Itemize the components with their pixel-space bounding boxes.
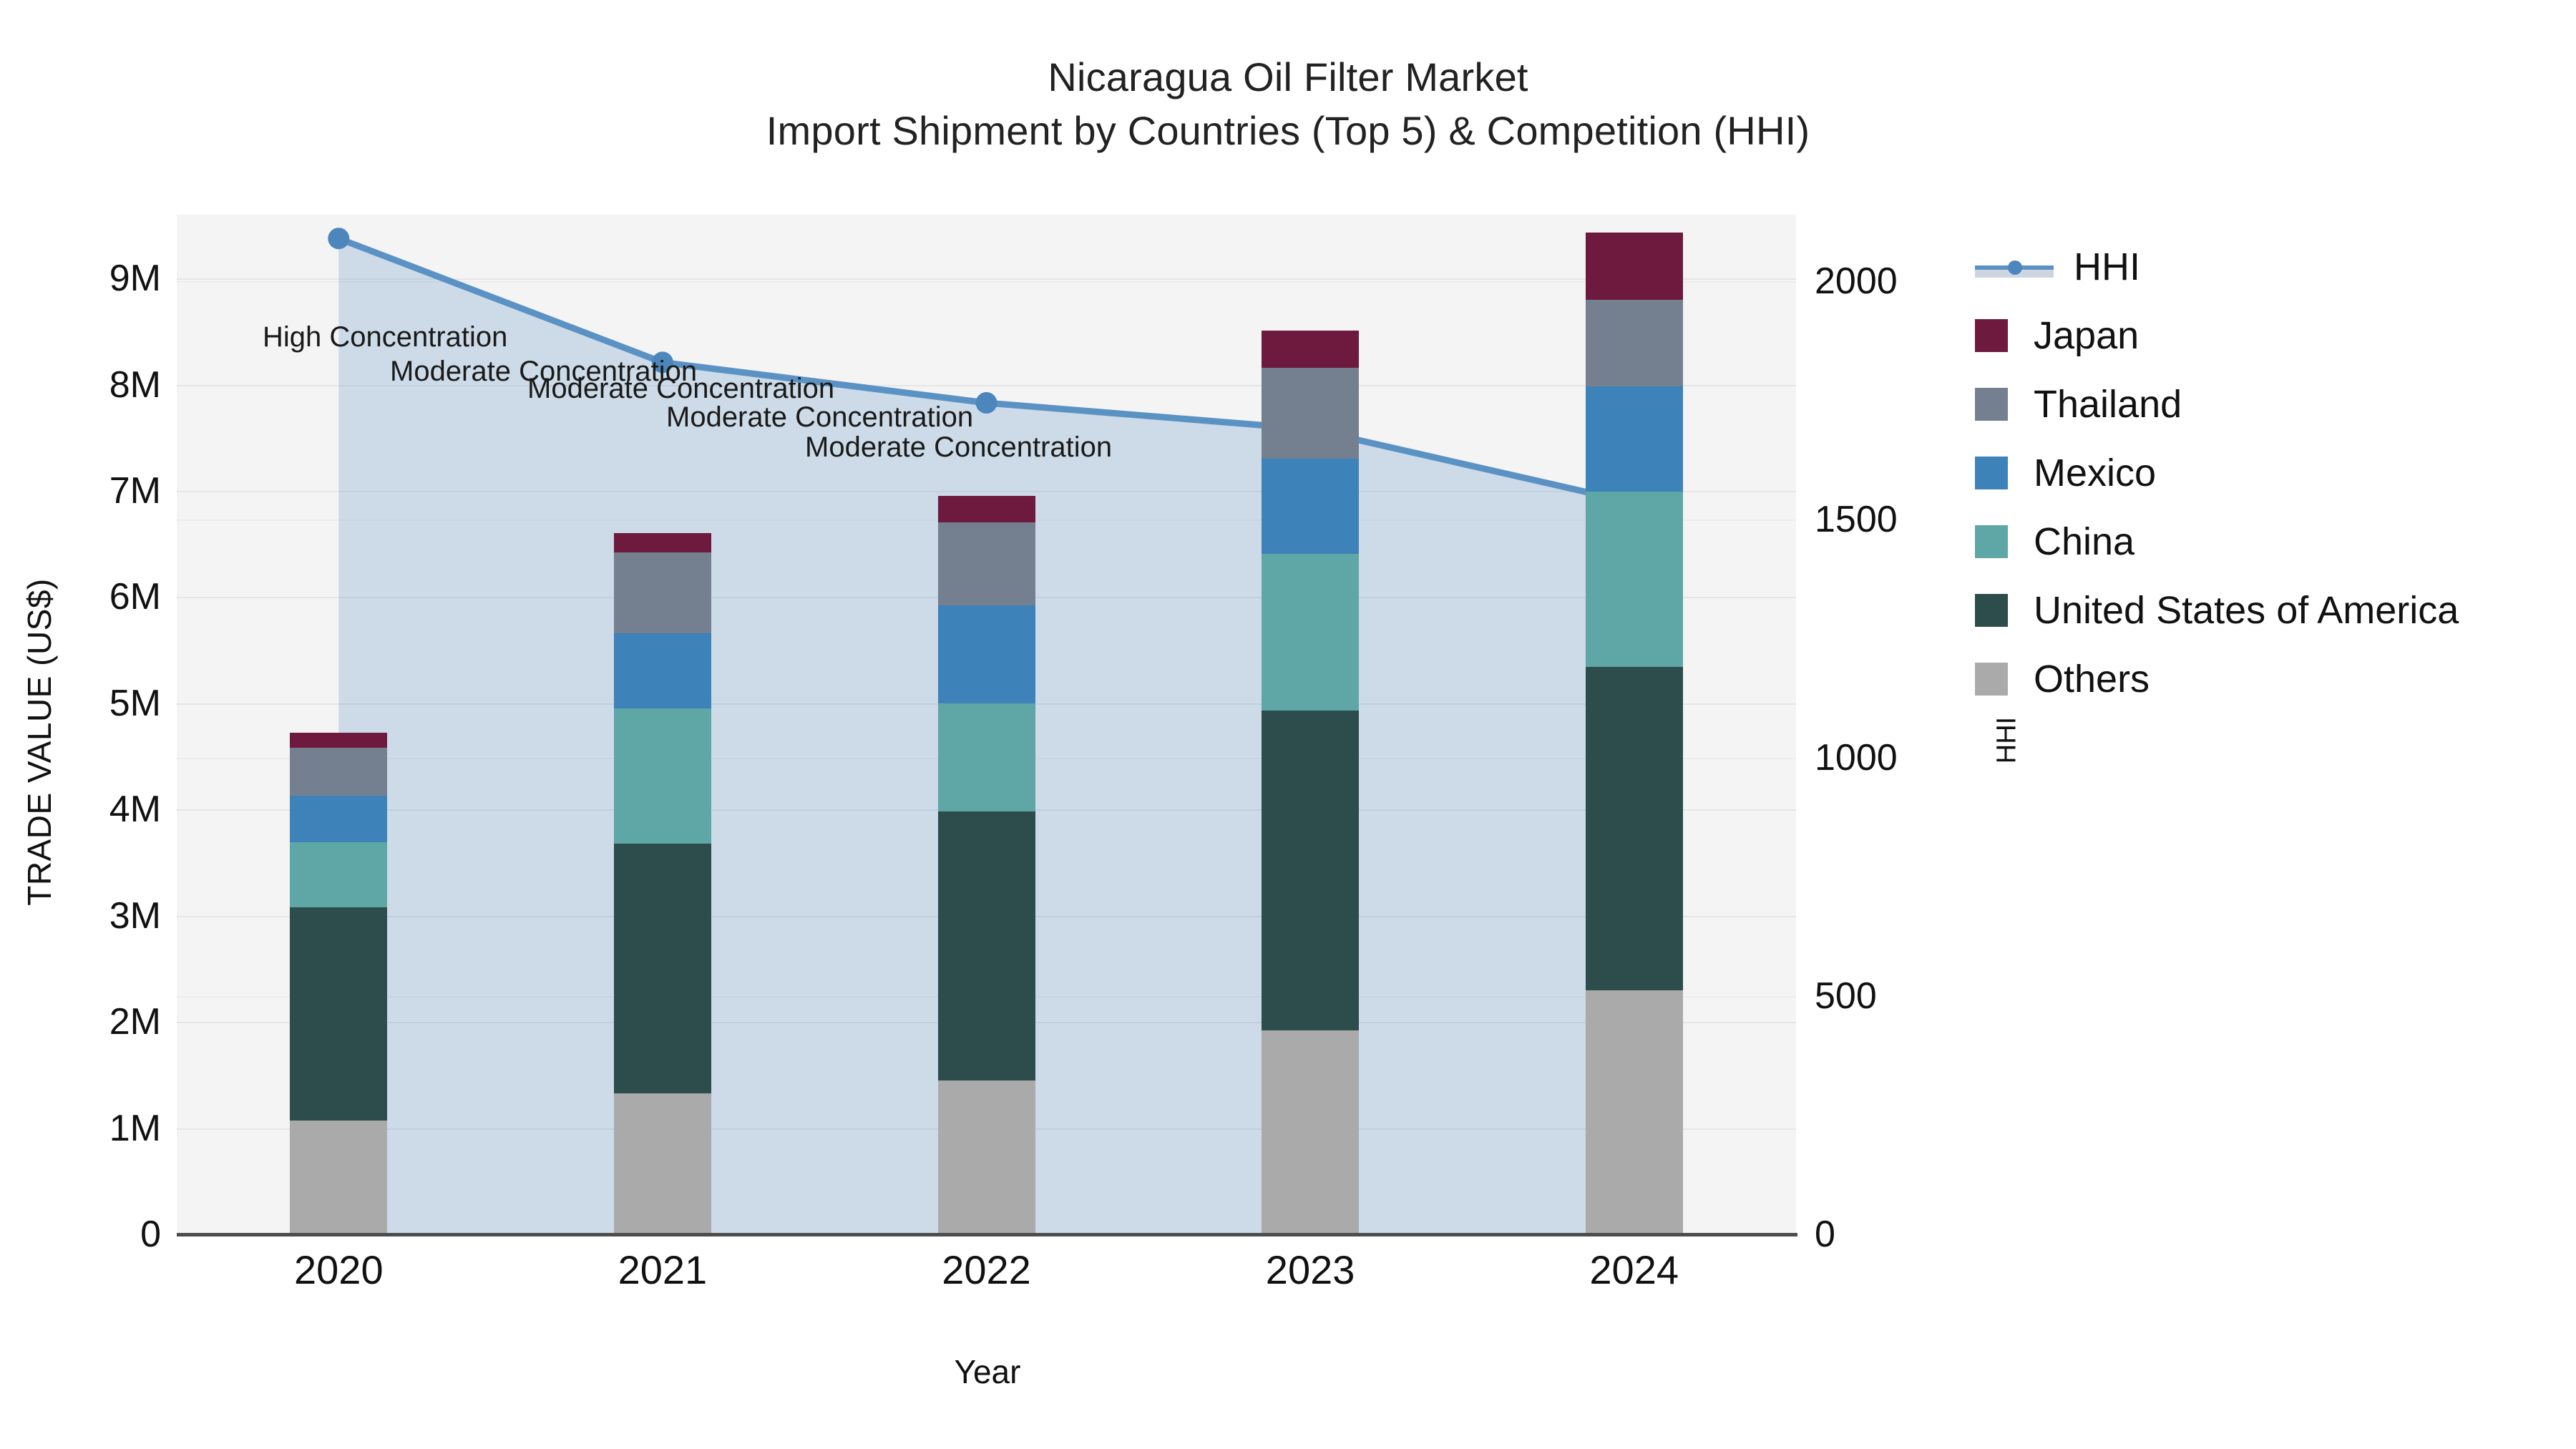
legend-color-swatch: [1975, 319, 2008, 352]
bar-segment[interactable]: [290, 748, 387, 796]
legend-item-label: HHI: [2074, 245, 2140, 289]
y-axis-right-tick-label: 0: [1815, 1213, 1835, 1256]
plot-area: High ConcentrationModerate Concentration…: [177, 215, 1796, 1234]
x-axis-tick-label: 2021: [618, 1246, 708, 1293]
y-axis-right-tick-label: 1000: [1815, 736, 1898, 779]
bar-segment[interactable]: [1262, 711, 1359, 1030]
bar-segment[interactable]: [614, 708, 711, 844]
bar-segment[interactable]: [1262, 368, 1359, 459]
bar-stack[interactable]: [290, 733, 387, 1234]
bar-segment[interactable]: [938, 496, 1035, 522]
bar-segment[interactable]: [938, 811, 1035, 1080]
hhi-data-point-marker[interactable]: [328, 228, 349, 249]
chart-canvas: Nicaragua Oil Filter Market Import Shipm…: [0, 0, 2576, 1449]
concentration-annotation: Moderate Concentration: [527, 373, 834, 405]
x-axis-line: [177, 1233, 1797, 1236]
x-axis-tick-label: 2020: [294, 1246, 384, 1293]
x-axis-tick-label: 2024: [1589, 1246, 1679, 1293]
concentration-annotation: High Concentration: [263, 321, 507, 353]
legend-item-thailand[interactable]: Thailand: [1975, 370, 2562, 439]
legend-marker-dot-icon: [2008, 260, 2022, 275]
legend-color-swatch: [1975, 663, 2008, 696]
legend-item-label: United States of America: [2034, 588, 2459, 633]
legend-item-mexico[interactable]: Mexico: [1975, 439, 2562, 507]
x-axis-title: Year: [0, 1352, 1975, 1391]
y-axis-right-tick-label: 500: [1815, 975, 1877, 1018]
bar-segment[interactable]: [614, 533, 711, 552]
y-axis-right-tick-label: 1500: [1815, 498, 1898, 541]
y-axis-left-tick-label: 2M: [109, 1000, 161, 1043]
bar-segment[interactable]: [938, 605, 1035, 703]
bar-stack[interactable]: [1262, 331, 1359, 1234]
y-axis-left-tick-label: 1M: [109, 1107, 161, 1150]
legend-item-label: Others: [2034, 657, 2150, 701]
chart-title-line-2: Import Shipment by Countries (Top 5) & C…: [0, 104, 2576, 157]
bar-segment[interactable]: [1262, 554, 1359, 711]
x-axis-tick-label: 2022: [942, 1246, 1031, 1293]
chart-title: Nicaragua Oil Filter Market Import Shipm…: [0, 50, 2576, 157]
bar-segment[interactable]: [1586, 233, 1683, 300]
legend-color-swatch: [1975, 457, 2008, 489]
legend-item-label: Japan: [2034, 313, 2139, 358]
legend-color-swatch: [1975, 388, 2008, 421]
y-axis-left-tick-label: 7M: [109, 469, 161, 512]
bar-segment[interactable]: [1586, 667, 1683, 990]
legend-item-united-states-of-america[interactable]: United States of America: [1975, 576, 2562, 645]
x-axis-tick-label: 2023: [1266, 1246, 1355, 1293]
y-axis-left-tick-label: 9M: [109, 257, 161, 300]
chart-legend: HHIJapanThailandMexicoChinaUnited States…: [1975, 233, 2562, 713]
legend-item-japan[interactable]: Japan: [1975, 301, 2562, 370]
legend-item-label: China: [2034, 519, 2135, 564]
y-axis-left-tick-label: 0: [140, 1213, 161, 1256]
bar-segment[interactable]: [614, 552, 711, 633]
legend-item-china[interactable]: China: [1975, 507, 2562, 576]
bar-segment[interactable]: [290, 1121, 387, 1234]
bar-segment[interactable]: [1586, 492, 1683, 667]
bar-stack[interactable]: [1586, 233, 1683, 1234]
legend-color-swatch: [1975, 594, 2008, 627]
y-axis-left-title: TRADE VALUE (US$): [20, 556, 59, 928]
bar-segment[interactable]: [1586, 990, 1683, 1234]
y-axis-left-tick-label: 3M: [109, 894, 161, 937]
bar-segment[interactable]: [938, 522, 1035, 605]
y-axis-left-tick-label: 6M: [109, 575, 161, 618]
bar-segment[interactable]: [938, 1080, 1035, 1234]
bar-segment[interactable]: [614, 1093, 711, 1234]
bar-stack[interactable]: [614, 533, 711, 1234]
legend-item-others[interactable]: Others: [1975, 645, 2562, 713]
y-axis-left-tick-label: 8M: [109, 364, 161, 406]
legend-item-hhi[interactable]: HHI: [1975, 233, 2562, 301]
hhi-data-point-marker[interactable]: [976, 392, 997, 414]
bar-segment[interactable]: [290, 842, 387, 907]
bar-segment[interactable]: [938, 703, 1035, 811]
bar-segment[interactable]: [1262, 459, 1359, 553]
y-axis-left-tick-label: 5M: [109, 682, 161, 725]
concentration-annotation: Moderate Concentration: [666, 401, 973, 434]
bar-segment[interactable]: [614, 633, 711, 708]
bar-segment[interactable]: [290, 733, 387, 748]
bar-segment[interactable]: [1586, 300, 1683, 387]
legend-color-swatch: [1975, 525, 2008, 558]
chart-title-line-1: Nicaragua Oil Filter Market: [0, 50, 2576, 104]
bar-segment[interactable]: [290, 796, 387, 842]
y-axis-left-tick-label: 4M: [109, 788, 161, 831]
legend-item-label: Mexico: [2034, 451, 2156, 495]
bar-segment[interactable]: [614, 844, 711, 1093]
bar-segment[interactable]: [1262, 1030, 1359, 1234]
concentration-annotation: Moderate Concentration: [805, 431, 1112, 464]
bar-stack[interactable]: [938, 496, 1035, 1234]
legend-line-swatch: [1975, 250, 2054, 283]
bar-segment[interactable]: [1586, 386, 1683, 492]
y-axis-right: 0500100015002000: [1797, 0, 2012, 1449]
bar-segment[interactable]: [1262, 331, 1359, 368]
legend-item-label: Thailand: [2034, 382, 2182, 426]
bar-segment[interactable]: [290, 907, 387, 1121]
y-axis-right-tick-label: 2000: [1815, 260, 1898, 303]
